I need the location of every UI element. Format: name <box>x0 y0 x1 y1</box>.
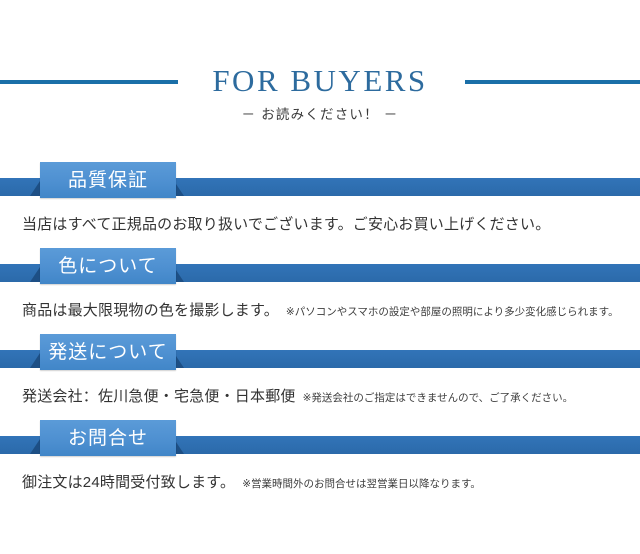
section-body-note: ※パソコンやスマホの設定や部屋の照明により多少変化感じられます。 <box>286 306 619 318</box>
section-ribbon: お問合せ <box>0 414 640 458</box>
section-body-main: 当店はすべて正規品のお取り扱いでございます。ご安心お買い上げください。 <box>22 216 550 233</box>
page-subtitle: － お読みください！ － <box>0 104 640 126</box>
section-contact: お問合せ 御注文は24時間受付致します。※営業時間外のお問合せは翌営業日以降なり… <box>0 414 640 494</box>
section-body-main: 発送会社：佐川急便・宅急便・日本郵便 <box>22 388 296 405</box>
page-header: FOR BUYERS － お読みください！ － <box>0 0 640 140</box>
section-heading: 品質保証 <box>40 162 176 198</box>
section-heading: 色について <box>40 248 176 284</box>
section-ribbon: 品質保証 <box>0 156 640 200</box>
section-body-note: ※発送会社のご指定はできませんので、ご了承ください。 <box>303 392 574 404</box>
section-shipping: 発送について 発送会社：佐川急便・宅急便・日本郵便※発送会社のご指定はできません… <box>0 328 640 408</box>
section-body-note: ※営業時間外のお問合せは翌営業日以降なります。 <box>242 478 481 490</box>
section-body: 御注文は24時間受付致します。※営業時間外のお問合せは翌営業日以降なります。 <box>0 458 640 494</box>
section-body: 当店はすべて正規品のお取り扱いでございます。ご安心お買い上げください。 <box>0 200 640 236</box>
section-quality: 品質保証 当店はすべて正規品のお取り扱いでございます。ご安心お買い上げください。 <box>0 156 640 236</box>
section-body: 発送会社：佐川急便・宅急便・日本郵便※発送会社のご指定はできませんので、ご了承く… <box>0 372 640 408</box>
section-heading: お問合せ <box>40 420 176 456</box>
section-body: 商品は最大限現物の色を撮影します。※パソコンやスマホの設定や部屋の照明により多少… <box>0 286 640 322</box>
section-ribbon: 発送について <box>0 328 640 372</box>
section-heading: 発送について <box>40 334 176 370</box>
page-title: FOR BUYERS <box>0 60 640 102</box>
section-body-main: 商品は最大限現物の色を撮影します。 <box>22 302 279 319</box>
section-body-main: 御注文は24時間受付致します。 <box>22 474 235 491</box>
section-color: 色について 商品は最大限現物の色を撮影します。※パソコンやスマホの設定や部屋の照… <box>0 242 640 322</box>
section-ribbon: 色について <box>0 242 640 286</box>
